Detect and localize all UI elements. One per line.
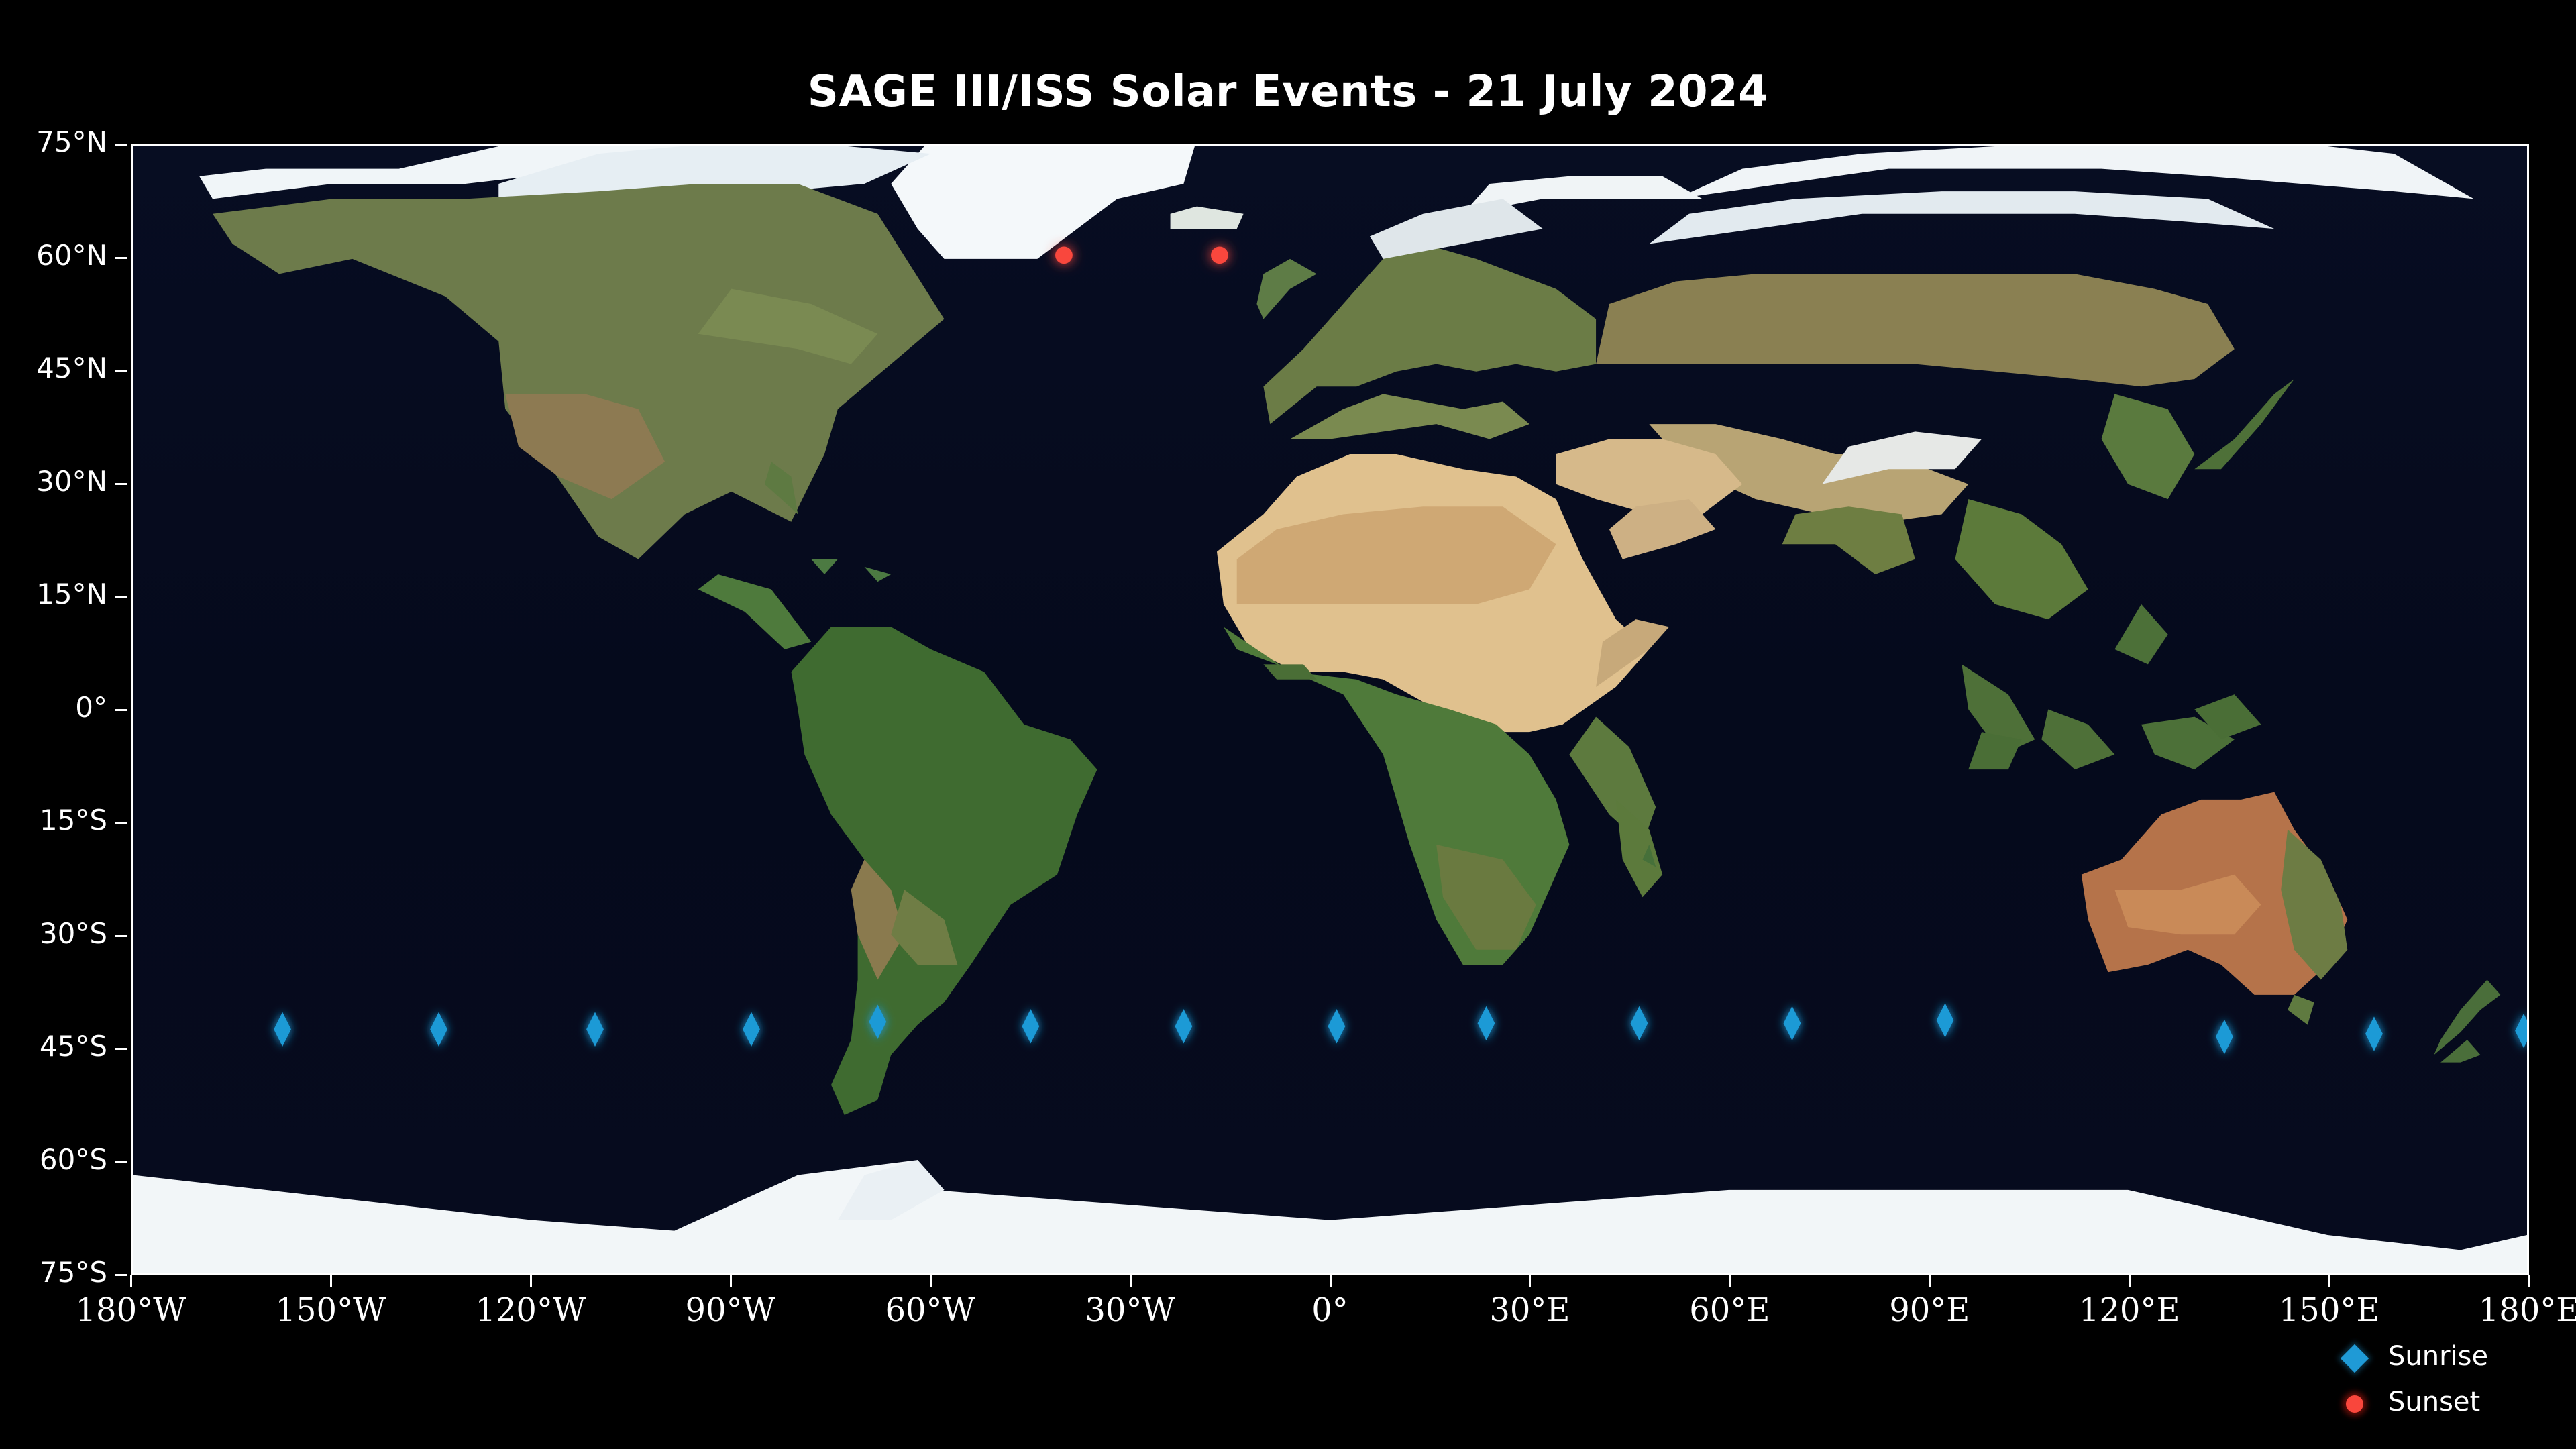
sunset-marker[interactable] bbox=[1055, 246, 1073, 264]
x-axis-tick-label: 90°E bbox=[1842, 1291, 2017, 1329]
x-axis-tick-mark bbox=[2129, 1275, 2131, 1287]
x-axis-tick-mark bbox=[1330, 1275, 1332, 1287]
y-axis-tick-mark bbox=[115, 822, 127, 824]
x-axis-tick-label: 30°W bbox=[1043, 1291, 1218, 1329]
x-axis-tick-mark bbox=[1929, 1275, 1931, 1287]
x-axis-tick-mark bbox=[1130, 1275, 1132, 1287]
x-axis-tick-mark bbox=[730, 1275, 732, 1287]
legend-item-sunset[interactable]: Sunset bbox=[2334, 1384, 2563, 1424]
y-axis-tick-label: 75°S bbox=[0, 1256, 107, 1289]
diamond-icon bbox=[2334, 1338, 2375, 1379]
x-axis-tick-label: 0° bbox=[1243, 1291, 1417, 1329]
legend-label: Sunset bbox=[2388, 1387, 2480, 1417]
x-axis-tick-label: 60°E bbox=[1642, 1291, 1817, 1329]
y-axis-tick-label: 30°N bbox=[0, 465, 107, 498]
sunrise-marker[interactable] bbox=[1022, 1009, 1039, 1043]
y-axis-tick-label: 15°S bbox=[0, 804, 107, 837]
y-axis-tick-label: 45°S bbox=[0, 1030, 107, 1063]
x-axis-tick-label: 120°E bbox=[2042, 1291, 2216, 1329]
map-figure: SAGE III/ISS Solar Events - 21 July 2024… bbox=[0, 0, 2576, 1449]
y-axis-tick-mark bbox=[115, 709, 127, 711]
sunrise-marker[interactable] bbox=[1175, 1009, 1193, 1043]
circle-icon bbox=[2334, 1384, 2375, 1424]
sunrise-marker[interactable] bbox=[2515, 1014, 2529, 1048]
legend-label: Sunrise bbox=[2388, 1341, 2488, 1372]
sunrise-marker[interactable] bbox=[274, 1012, 291, 1046]
y-axis-tick-label: 75°N bbox=[0, 125, 107, 158]
y-axis-tick-label: 15°N bbox=[0, 578, 107, 610]
y-axis-tick-label: 30°S bbox=[0, 917, 107, 950]
x-axis-tick-label: 90°W bbox=[643, 1291, 818, 1329]
x-axis-tick-mark bbox=[330, 1275, 332, 1287]
y-axis-tick-mark bbox=[115, 257, 127, 259]
x-axis-tick-mark bbox=[930, 1275, 932, 1287]
y-axis-tick-mark bbox=[115, 935, 127, 937]
page-title: SAGE III/ISS Solar Events - 21 July 2024 bbox=[0, 67, 2576, 117]
event-markers-layer bbox=[133, 146, 2527, 1273]
sunrise-marker[interactable] bbox=[2365, 1016, 2383, 1051]
x-axis-tick-label: 180°W bbox=[44, 1291, 218, 1329]
x-axis-tick-label: 150°E bbox=[2242, 1291, 2416, 1329]
y-axis-tick-label: 0° bbox=[0, 691, 107, 724]
x-axis-tick-mark bbox=[130, 1275, 132, 1287]
y-axis-tick-mark bbox=[115, 370, 127, 372]
x-axis-tick-mark bbox=[530, 1275, 532, 1287]
y-axis-tick-mark bbox=[115, 1048, 127, 1050]
x-axis-tick-mark bbox=[1729, 1275, 1731, 1287]
sunset-marker[interactable] bbox=[1211, 246, 1228, 264]
y-axis-tick-label: 60°N bbox=[0, 239, 107, 272]
y-axis-tick-mark bbox=[115, 596, 127, 598]
x-axis-tick-mark bbox=[2528, 1275, 2530, 1287]
x-axis-tick-mark bbox=[1529, 1275, 1531, 1287]
x-axis-tick-mark bbox=[2328, 1275, 2330, 1287]
sunrise-marker[interactable] bbox=[1478, 1006, 1495, 1040]
sunrise-marker[interactable] bbox=[1784, 1006, 1801, 1040]
y-axis-tick-mark bbox=[115, 483, 127, 485]
x-axis-tick-label: 180°E bbox=[2442, 1291, 2576, 1329]
y-axis-tick-label: 60°S bbox=[0, 1143, 107, 1176]
sunrise-marker[interactable] bbox=[743, 1012, 760, 1046]
sunrise-marker[interactable] bbox=[869, 1004, 886, 1038]
sunrise-marker[interactable] bbox=[1328, 1009, 1346, 1043]
sunrise-marker[interactable] bbox=[1937, 1003, 1954, 1037]
y-axis-tick-mark bbox=[115, 1161, 127, 1163]
legend: SunriseSunset bbox=[2334, 1338, 2563, 1439]
y-axis-tick-mark bbox=[115, 1274, 127, 1276]
sunrise-marker[interactable] bbox=[1631, 1006, 1648, 1040]
x-axis-tick-label: 60°W bbox=[843, 1291, 1018, 1329]
x-axis-tick-label: 120°W bbox=[443, 1291, 618, 1329]
map-plot-area bbox=[131, 144, 2529, 1275]
x-axis-tick-label: 30°E bbox=[1442, 1291, 1617, 1329]
x-axis-tick-label: 150°W bbox=[244, 1291, 418, 1329]
sunrise-marker[interactable] bbox=[586, 1012, 604, 1046]
sunrise-marker[interactable] bbox=[430, 1012, 447, 1046]
y-axis-tick-label: 45°N bbox=[0, 352, 107, 384]
y-axis-tick-mark bbox=[115, 144, 127, 146]
legend-item-sunrise[interactable]: Sunrise bbox=[2334, 1338, 2563, 1379]
sunrise-marker[interactable] bbox=[2216, 1020, 2233, 1054]
